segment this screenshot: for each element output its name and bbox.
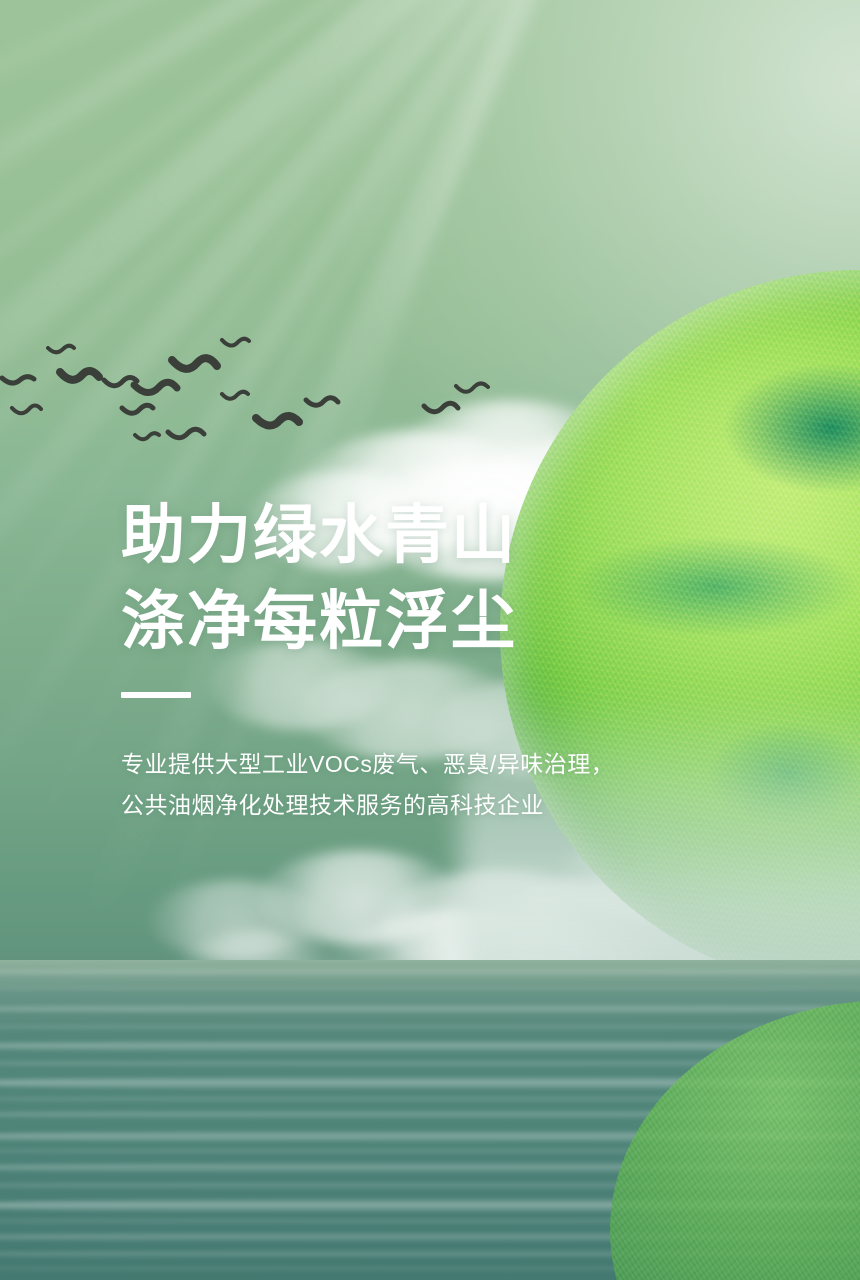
- water-streak: [0, 1024, 860, 1030]
- subtitle-line-1: 专业提供大型工业VOCs废气、恶臭/异味治理，: [121, 744, 681, 785]
- hero-poster: 助力绿水青山 涤净每粒浮尘 专业提供大型工业VOCs废气、恶臭/异味治理， 公共…: [0, 0, 860, 1280]
- headline-line-2: 涤净每粒浮尘: [121, 578, 681, 664]
- headline-line-1: 助力绿水青山: [121, 492, 681, 578]
- water-streak: [0, 986, 860, 991]
- hero-copy: 助力绿水青山 涤净每粒浮尘 专业提供大型工业VOCs废气、恶臭/异味治理， 公共…: [121, 492, 681, 826]
- divider-rule: [121, 692, 191, 698]
- page-title: 助力绿水青山 涤净每粒浮尘: [121, 492, 681, 664]
- water-streak: [0, 1004, 860, 1014]
- water-streak: [0, 968, 860, 976]
- subtitle-line-2: 公共油烟净化处理技术服务的高科技企业: [121, 785, 681, 826]
- hero-subtitle: 专业提供大型工业VOCs废气、恶臭/异味治理， 公共油烟净化处理技术服务的高科技…: [121, 744, 681, 826]
